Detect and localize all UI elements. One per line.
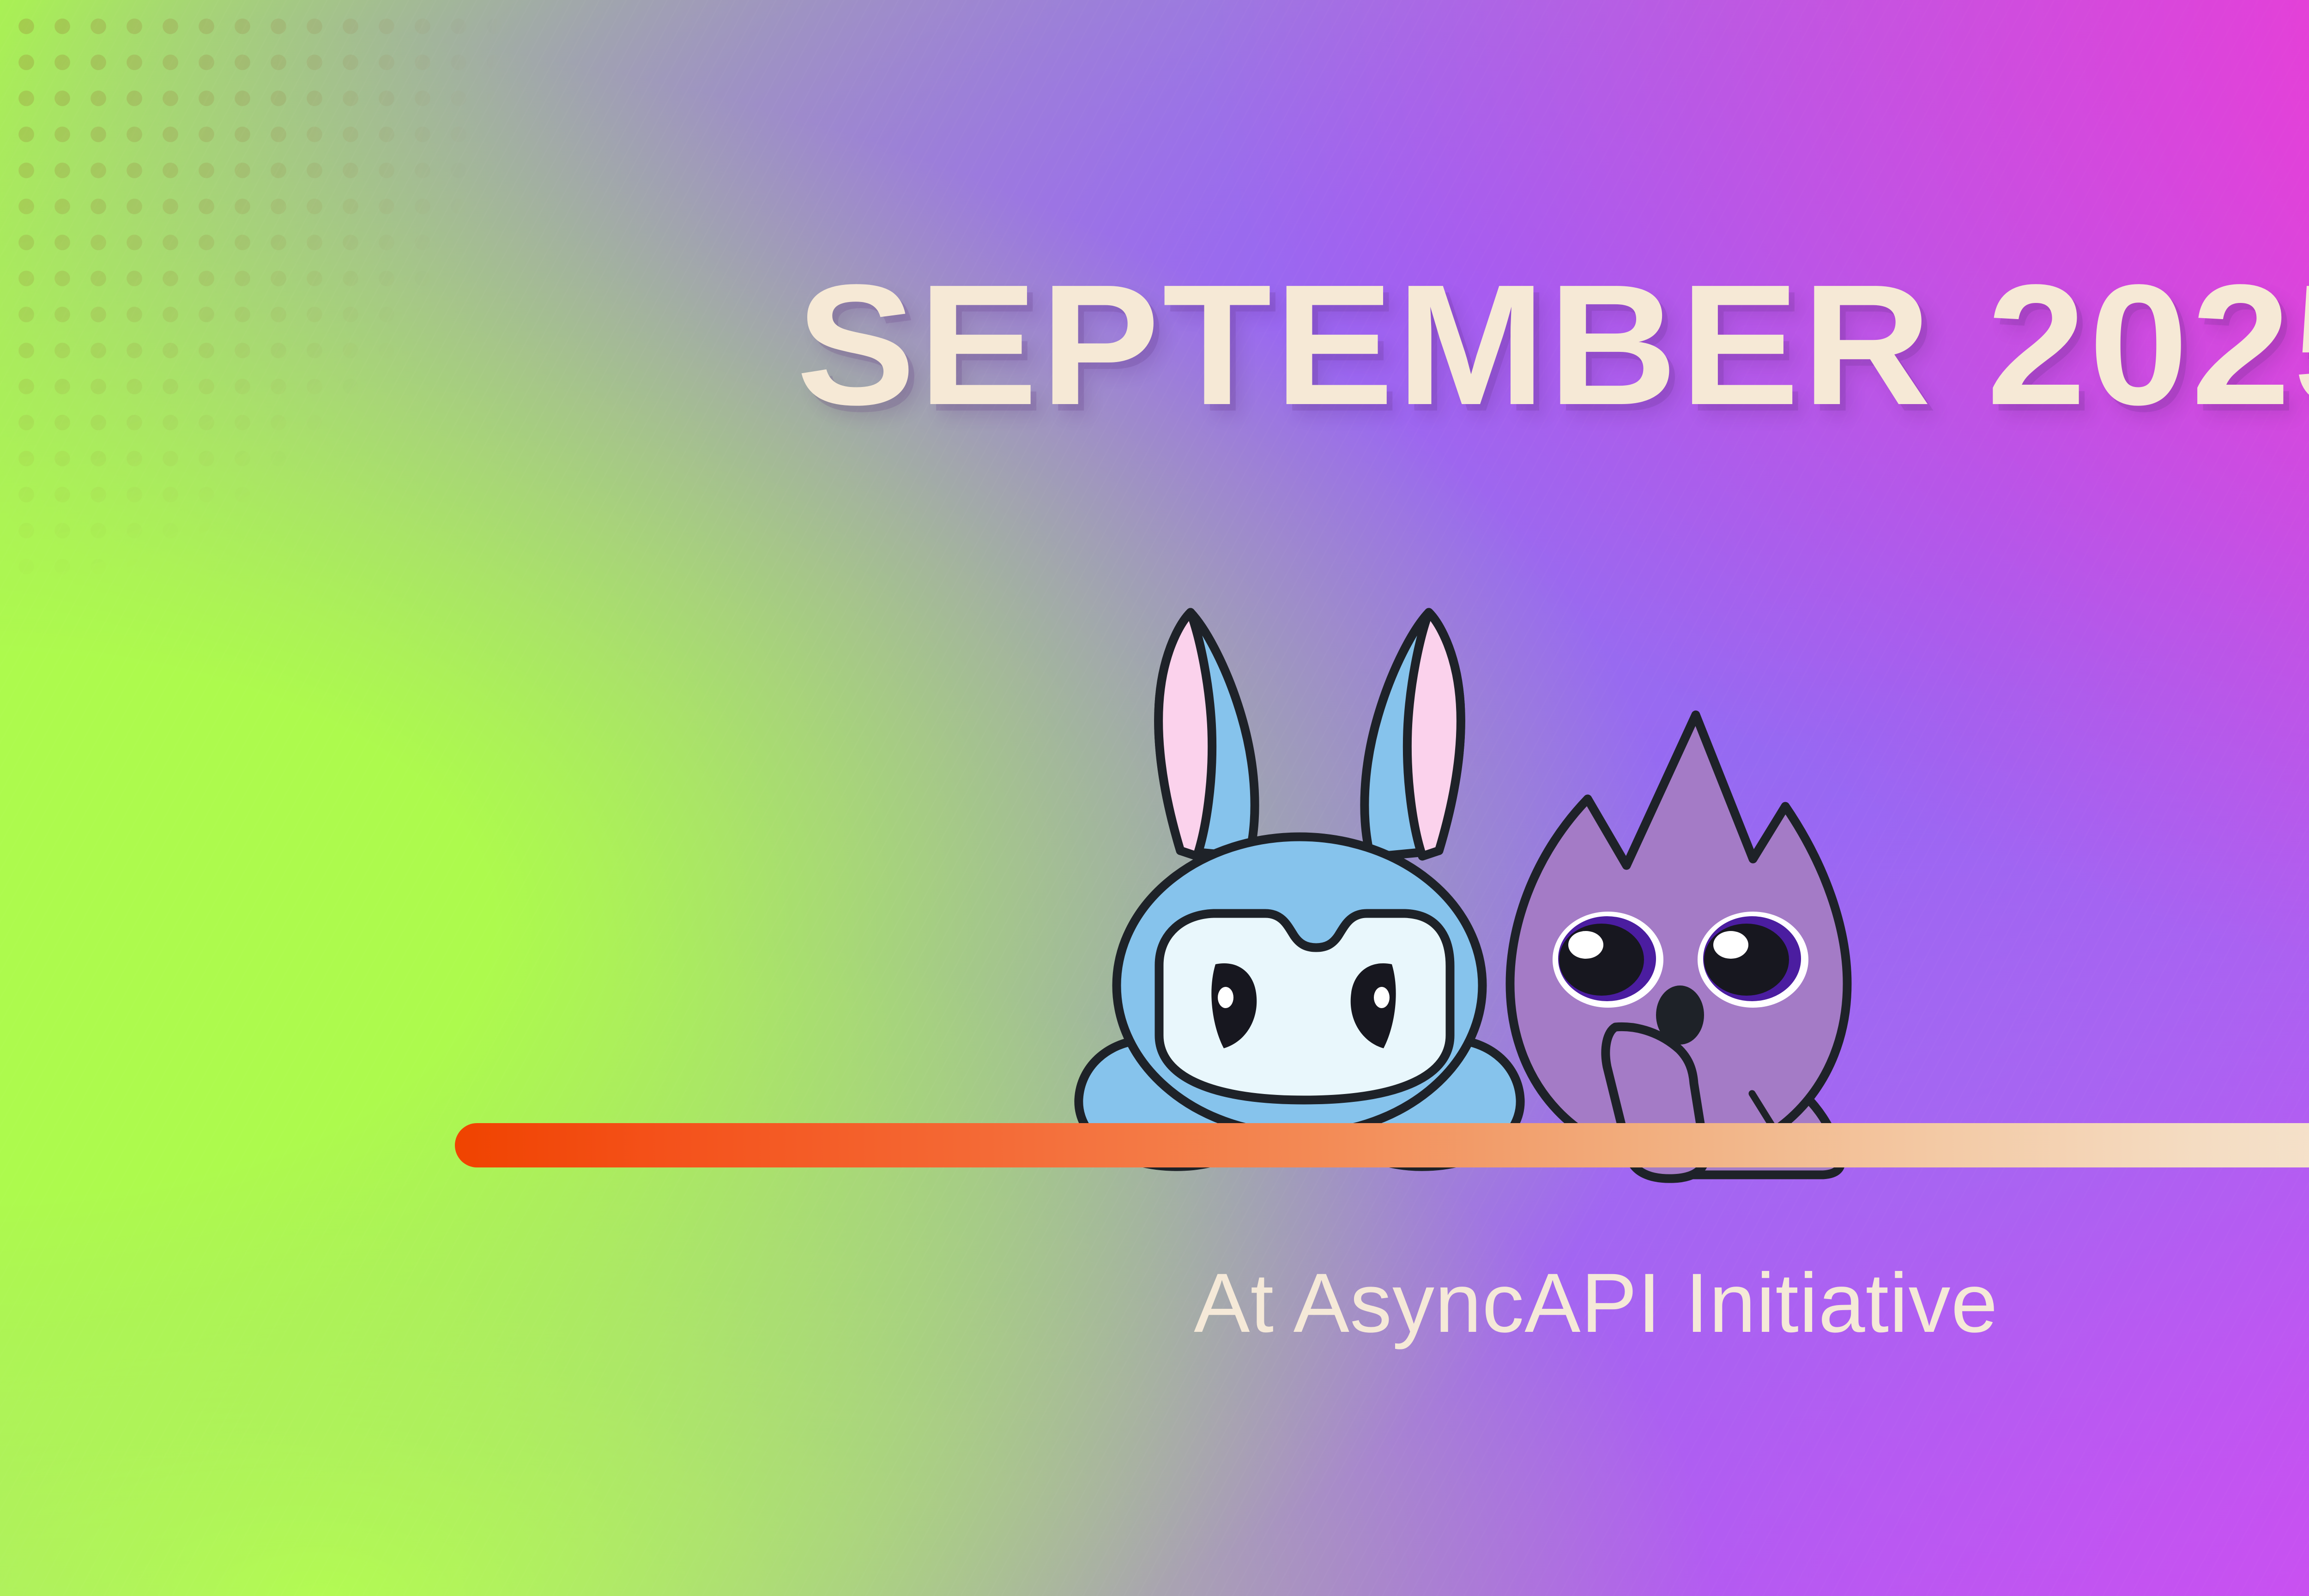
flame-right-eye [1698, 912, 1808, 1008]
bunny-head [1117, 837, 1482, 1134]
divider-bar-wrap [455, 1123, 2309, 1167]
flame-mascot [1510, 715, 1847, 1179]
flame-left-eye [1553, 912, 1663, 1008]
bunny-right-ear [1365, 612, 1461, 857]
bunny-left-ear [1159, 612, 1255, 857]
gradient-divider-bar [455, 1123, 2309, 1167]
page-title: SEPTEMBER 2025 [0, 259, 2309, 430]
mascot-group: .ol { stroke:#1E2228; stroke-width:19; s… [1007, 522, 1875, 1201]
page-subtitle: At AsyncAPI Initiative [0, 1261, 2309, 1345]
mascot-illustration: .ol { stroke:#1E2228; stroke-width:19; s… [1007, 522, 1875, 1201]
flame-right-eye-shine [1713, 931, 1748, 959]
bunny-left-eye-shine [1218, 987, 1233, 1008]
banner-stage: SEPTEMBER 2025 .ol { stroke:#1E2228; str… [0, 0, 2309, 1596]
flame-left-eye-shine [1568, 931, 1603, 959]
bunny-right-eye-shine [1374, 987, 1390, 1008]
bunny-mascot [1079, 612, 1520, 1167]
